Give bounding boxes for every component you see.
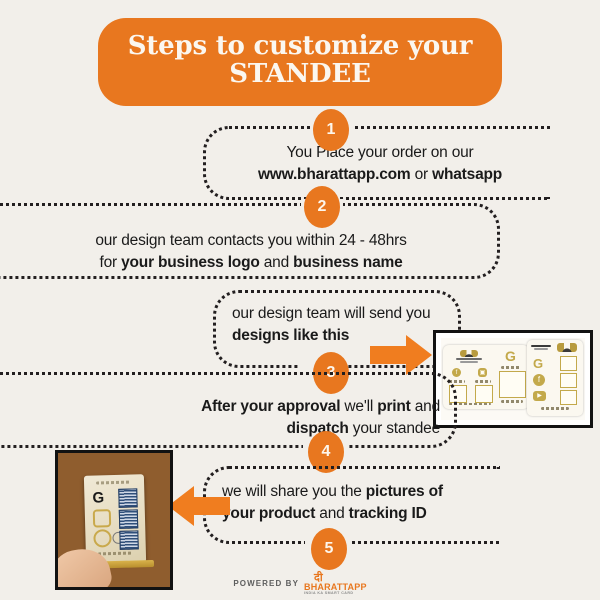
step-5-number: 5 <box>325 540 334 558</box>
google-glyph: G <box>505 349 516 363</box>
design-card-portrait: G f ▶ <box>527 340 583 416</box>
qr-placeholder-3 <box>499 371 526 398</box>
step-1-line-1: You Place your order on our <box>215 142 545 164</box>
brand-tagline: INDIA KA SMART CARD <box>304 592 353 596</box>
step-1-number-badge: 1 <box>313 109 349 151</box>
title-line-1: Steps to customize your <box>128 31 473 61</box>
facebook-icon-2: f <box>533 374 545 386</box>
design-sample-photo: f ▣ G G f ▶ <box>433 330 593 428</box>
google-glyph-2: G <box>533 357 543 370</box>
youtube-icon: ▶ <box>533 391 546 401</box>
step-5-text: we will share you the pictures of your p… <box>222 481 494 525</box>
title-line-2: STANDEE <box>128 60 473 88</box>
facebook-icon: f <box>452 368 461 377</box>
arrow-right-icon <box>370 333 432 377</box>
brand-line-sub <box>460 361 478 363</box>
step-1-line-2: www.bharattapp.com or whatsapp <box>215 164 545 186</box>
whatsapp-icon-photo <box>93 529 111 547</box>
design-logo-left <box>449 350 489 363</box>
brand-line-bottom <box>534 348 548 350</box>
qr-code-3 <box>119 530 138 549</box>
design-logo-right <box>530 344 552 350</box>
step-4-text: After your approval we'll print and disp… <box>20 396 440 440</box>
step-4-line-1: After your approval we'll print and <box>20 396 440 418</box>
design-photo-inner: f ▣ G G f ▶ <box>441 338 585 420</box>
page-title: Steps to customize your STANDEE <box>128 32 473 88</box>
step-3-line-1: our design team will send you <box>232 303 460 325</box>
infographic-canvas: Steps to customize your STANDEE You Plac… <box>0 0 600 600</box>
step-4-line-2: dispatch your standee <box>20 418 440 440</box>
qr-placeholder-6 <box>560 390 577 405</box>
footer: POWERED BY दी BHARATTAPP INDIA KA SMART … <box>0 572 600 596</box>
step-1-text: You Place your order on our www.bharatta… <box>215 142 545 186</box>
step-2-number-badge: 2 <box>304 186 340 228</box>
product-photo: G <box>55 450 173 590</box>
brand-line <box>456 358 482 360</box>
step-4-number: 4 <box>322 443 331 461</box>
instagram-icon: ▣ <box>478 368 487 377</box>
powered-by-label: POWERED BY <box>233 579 299 588</box>
step-5-line-2: your product and tracking ID <box>222 503 494 525</box>
label-scribble-2 <box>475 380 491 383</box>
step-5-line-1: we will share you the pictures of <box>222 481 494 503</box>
google-label-scribble <box>501 366 521 369</box>
wings-logo-icon-2 <box>557 343 577 352</box>
standee-header-scribble <box>96 481 130 485</box>
standee-footer-scribble <box>98 552 132 556</box>
step-1-number: 1 <box>327 121 336 139</box>
header-banner: Steps to customize your STANDEE <box>98 18 502 106</box>
connect-scribble-b <box>541 407 569 410</box>
qr-code-2 <box>119 509 138 528</box>
bharattapp-logo: दी BHARATTAPP INDIA KA SMART CARD <box>304 572 367 596</box>
instagram-icon-photo <box>93 509 111 527</box>
step-2-text: our design team contacts you within 24 -… <box>18 230 484 274</box>
qr-placeholder-5 <box>560 373 577 388</box>
step-2-line-2: for your business logo and business name <box>18 252 484 274</box>
step-2-number: 2 <box>318 198 327 216</box>
step-2-line-1: our design team contacts you within 24 -… <box>18 230 484 252</box>
wings-logo-icon <box>460 350 478 357</box>
qr-code-1 <box>118 488 137 507</box>
google-glyph-photo: G <box>92 490 104 505</box>
connect-scribble-a <box>501 400 523 403</box>
step-5-number-badge: 5 <box>311 528 347 570</box>
brand-line-top <box>531 345 551 347</box>
qr-placeholder-2 <box>475 385 493 403</box>
arrow-left-icon <box>168 483 230 529</box>
qr-placeholder-4 <box>560 356 577 371</box>
